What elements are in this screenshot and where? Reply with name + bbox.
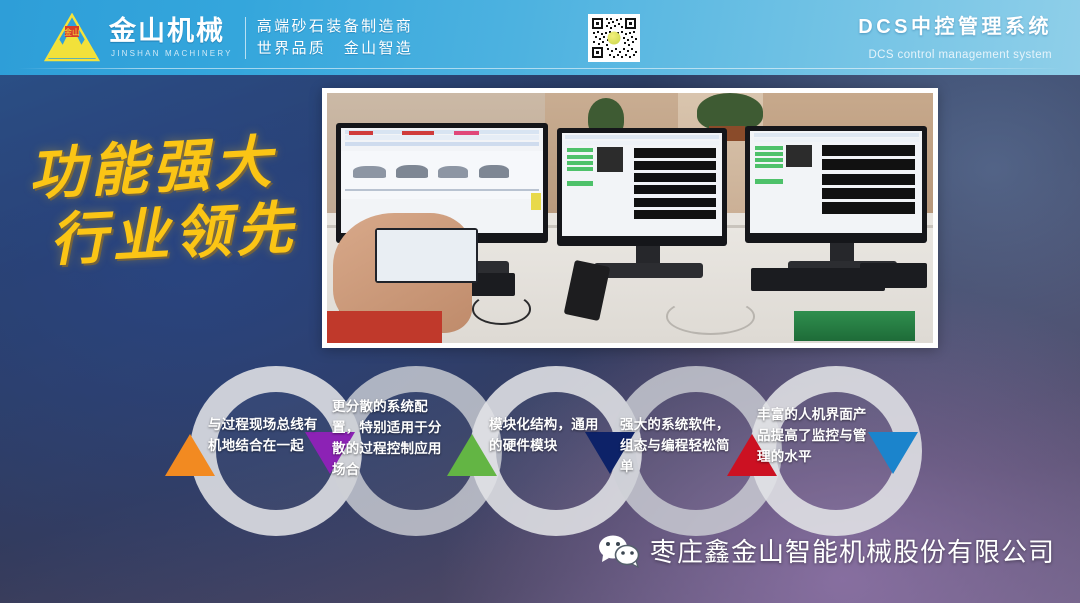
- footer-company-block: 枣庄鑫金山智能机械股份有限公司: [598, 532, 1055, 569]
- calligraphy-line-2: 行业领先: [48, 194, 303, 274]
- red-mat: [327, 311, 442, 344]
- dcs-subtitle: DCS control management system: [858, 49, 1052, 61]
- brand-name-stack: 金山机械 JINSHAN MACHINERY: [100, 18, 233, 58]
- qr-code-icon[interactable]: [588, 14, 640, 62]
- feature-text-5: 丰富的人机界面产品提高了监控与管理的水平: [757, 404, 879, 467]
- mountain-triangle-logo-icon: 金山: [44, 13, 100, 63]
- green-book: [794, 311, 915, 341]
- brand-tagline: 高端砂石装备制造商 世界品质 金山智造: [257, 16, 414, 60]
- page-header: 金山 金山机械 JINSHAN MACHINERY 高端砂石装备制造商 世界品质…: [0, 0, 1080, 75]
- dcs-title: DCS中控管理系统: [858, 10, 1052, 39]
- control-room-photo: [327, 93, 933, 343]
- brand-logo-block: 金山 金山机械 JINSHAN MACHINERY 高端砂石装备制造商 世界品质…: [44, 9, 413, 67]
- qr-center-logo: [608, 32, 621, 45]
- brand-name-en: JINSHAN MACHINERY: [111, 49, 233, 58]
- monitor-center: [557, 128, 727, 246]
- svg-text:金山: 金山: [64, 27, 80, 37]
- feature-text-4: 强大的系统软件，组态与编程轻松简单: [620, 414, 742, 477]
- tagline-line-1: 高端砂石装备制造商: [257, 16, 414, 38]
- monitor-center-screen: [562, 133, 722, 236]
- tablet-device: [375, 228, 478, 283]
- feature-text-1: 与过程现场总线有机地结合在一起: [208, 414, 330, 456]
- monitor-right-screen: [750, 131, 922, 234]
- feature-text-2: 更分散的系统配置，特别适用于分散的过程控制应用场合: [332, 396, 454, 480]
- qr-code-pattern: [590, 16, 638, 60]
- slide-canvas: 金山 金山机械 JINSHAN MACHINERY 高端砂石装备制造商 世界品质…: [0, 0, 1080, 603]
- monitor-right: [745, 126, 927, 244]
- dcs-title-block: DCS中控管理系统 DCS control management system: [858, 10, 1052, 61]
- feature-ring-chain: 与过程现场总线有机地结合在一起 更分散的系统配置，特别适用于分散的过程控制应用场…: [0, 356, 1080, 546]
- tagline-line-2: 世界品质 金山智造: [257, 38, 414, 60]
- company-name: 枣庄鑫金山智能机械股份有限公司: [650, 532, 1055, 569]
- control-room-photo-frame: [322, 88, 938, 348]
- feature-text-3: 模块化结构，通用的硬件模块: [489, 414, 611, 456]
- brand-divider: [245, 17, 246, 59]
- wechat-icon[interactable]: [598, 534, 640, 568]
- hero-calligraphy: 功能强大 行业领先: [27, 127, 304, 275]
- brand-name-cn: 金山机械: [109, 18, 233, 45]
